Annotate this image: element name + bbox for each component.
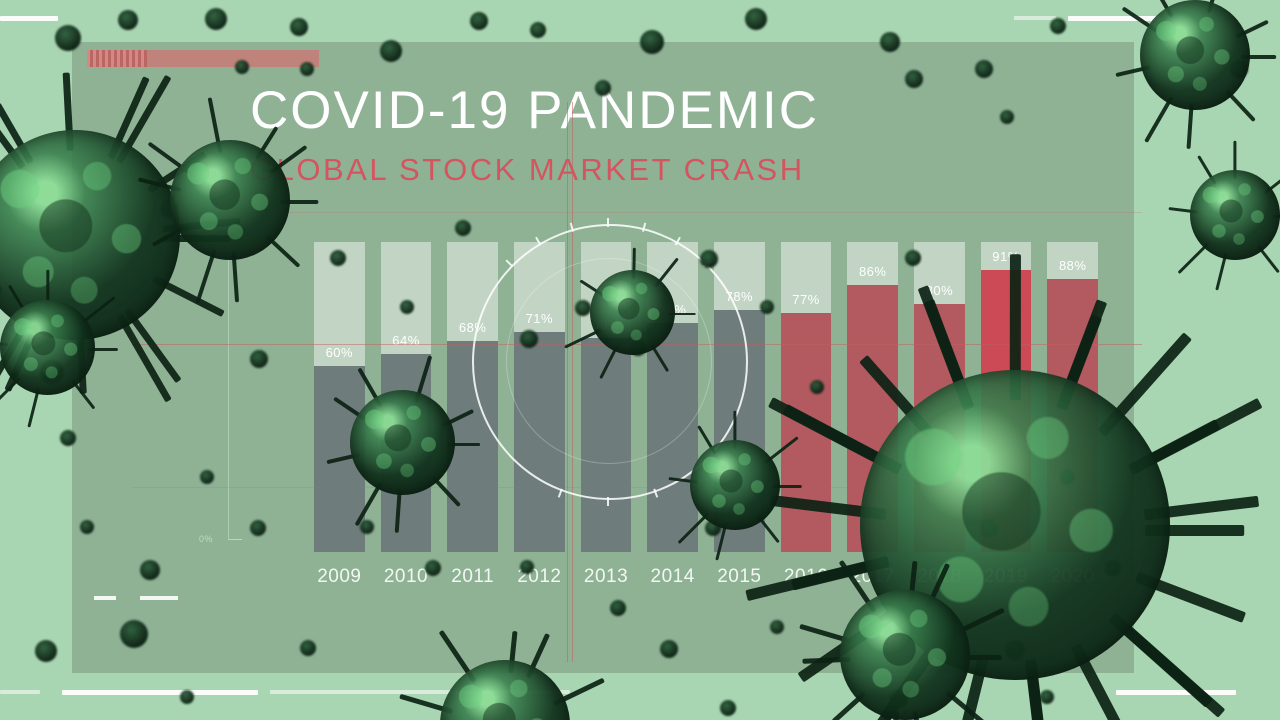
x-axis-tick-label: 2014 [647,566,698,588]
virus-particle-small [640,30,664,54]
virus-particle-small [595,80,611,96]
virus-particle-small [235,60,249,74]
virus-particle-small [760,300,774,314]
virus-particle [840,590,970,720]
virus-particle-small [1000,110,1014,124]
x-axis-tick-label: 2011 [447,566,498,588]
y-axis-min-label: 0% [199,534,213,544]
bar-value-label: 91% [981,249,1032,264]
virus-particle-small [120,620,148,648]
virus-particle-small [660,640,678,658]
virus-particle-small [140,560,160,580]
virus-texture [177,147,283,253]
bar-fill [447,341,498,552]
virus-texture [6,306,90,390]
virus-particle-small [60,430,76,446]
virus-particle-small [520,560,534,574]
hud-line-top-left [0,16,58,21]
virus-particle-small [720,700,736,716]
virus-particle-small [300,640,316,656]
bar-value-label: 60% [314,345,365,360]
x-axis-tick-label: 2009 [314,566,365,588]
bar-fill [514,332,565,552]
virus-particle-small [250,520,266,536]
x-axis-tick-label: 2013 [581,566,632,588]
hud-line-bottom-left [62,690,258,695]
bar-value-label: 78% [714,289,765,304]
virus-particle-small [745,8,767,30]
virus-texture [1147,7,1244,104]
bar-column: 60% [314,242,365,552]
panel-hud-dash-1 [94,596,116,600]
virus-particle-small [1040,690,1054,704]
virus-particle [170,140,290,260]
virus-particle-small [180,690,194,704]
page-subtitle: GLOBAL STOCK MARKET CRASH [250,152,805,188]
hud-line-bottom-right [1116,690,1236,695]
hud-line-bottom-far-left [0,690,40,694]
crosshair-vertical-1 [567,102,568,662]
virus-particle-small [575,300,591,316]
virus-particle-small [770,620,784,634]
virus-particle-small [880,32,900,52]
y-axis-baseline-tick [228,539,242,540]
virus-particle-small [400,300,414,314]
virus-particle [350,390,455,495]
virus-texture [356,396,448,488]
virus-particle-small [118,10,138,30]
virus-particle-small [455,220,471,236]
virus-particle-small [975,60,993,78]
virus-particle-small [300,62,314,76]
virus-texture [595,275,670,350]
virus-particle-small [330,250,346,266]
virus-particle-small [520,330,538,348]
y-axis-line [228,234,229,539]
virus-particle-small [905,70,923,88]
virus-particle-small [290,18,308,36]
screenshot-stage: COVID-19 PANDEMIC GLOBAL STOCK MARKET CR… [0,0,1280,720]
virus-texture [848,598,962,712]
virus-particle [590,270,675,355]
bar-column: 68% [447,242,498,552]
virus-particle-small [530,22,546,38]
virus-particle [1140,0,1250,110]
virus-particle-small [1050,18,1066,34]
virus-particle-small [425,560,441,576]
hud-line-top-right [1068,16,1160,21]
virus-particle [0,300,95,395]
virus-particle-small [810,380,824,394]
virus-particle-small [700,250,718,268]
virus-particle-small [470,12,488,30]
panel-hud-dash-2 [140,596,178,600]
x-axis-tick-label: 2010 [381,566,432,588]
virus-particle-small [205,8,227,30]
bar-value-label: 86% [847,264,898,279]
virus-texture [1195,175,1274,254]
redacted-header-ticks [87,50,147,67]
x-axis-tick-label: 2015 [714,566,765,588]
virus-particle-small [905,250,921,266]
bar-value-label: 77% [781,292,832,307]
virus-texture [695,445,774,524]
virus-particle-small [80,520,94,534]
virus-particle-small [250,350,268,368]
bar-column: 71% [514,242,565,552]
crosshair-vertical-2 [572,102,573,662]
bar-fill [647,323,698,552]
page-title: COVID-19 PANDEMIC [250,80,819,141]
virus-particle-small [610,600,626,616]
virus-particle [690,440,780,530]
hud-line-top-center [1014,16,1056,20]
virus-particle-small [200,470,214,484]
virus-particle-small [55,25,81,51]
virus-particle-small [360,520,374,534]
bar-value-label: 64% [381,333,432,348]
virus-particle-small [380,40,402,62]
bar-value-label: 71% [514,311,565,326]
virus-particle-small [35,640,57,662]
virus-particle [1190,170,1280,260]
bar-value-label: 68% [447,320,498,335]
bar-value-label: 88% [1047,258,1098,273]
